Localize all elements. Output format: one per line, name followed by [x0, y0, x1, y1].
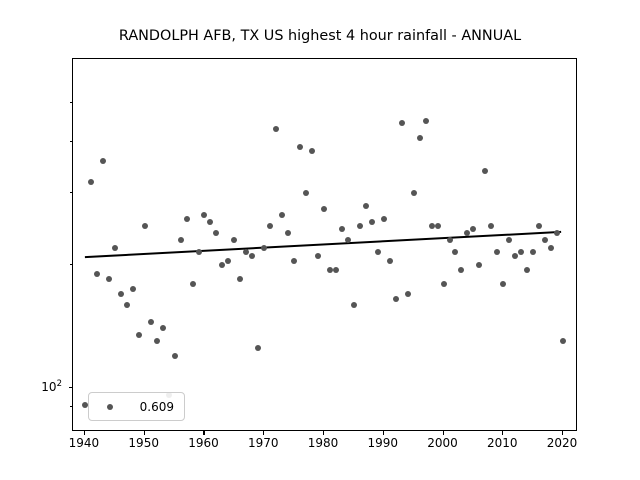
scatter-point — [375, 249, 381, 255]
scatter-point — [207, 219, 213, 225]
scatter-point — [339, 226, 345, 232]
x-tick-label: 1950 — [114, 436, 174, 450]
x-tick — [502, 431, 503, 435]
scatter-point — [88, 179, 94, 185]
figure: RANDOLPH AFB, TX US highest 4 hour rainf… — [0, 0, 640, 480]
scatter-point — [345, 237, 351, 243]
legend[interactable]: 0.609 — [88, 392, 185, 421]
scatter-point — [333, 267, 339, 273]
y-tick-minor — [70, 102, 72, 103]
scatter-point — [470, 226, 476, 232]
scatter-point — [357, 223, 363, 229]
scatter-point — [405, 291, 411, 297]
scatter-point — [136, 332, 142, 338]
scatter-point — [435, 223, 441, 229]
scatter-point — [524, 267, 530, 273]
scatter-point — [124, 302, 130, 308]
y-tick-minor — [70, 264, 72, 265]
scatter-point — [417, 135, 423, 141]
x-tick — [263, 431, 264, 435]
scatter-point — [172, 353, 178, 359]
plot-area — [72, 58, 577, 431]
scatter-point — [429, 223, 435, 229]
scatter-point — [315, 253, 321, 259]
x-tick — [562, 431, 563, 435]
scatter-point — [142, 223, 148, 229]
scatter-point — [381, 216, 387, 222]
scatter-point — [447, 237, 453, 243]
scatter-point — [297, 144, 303, 150]
scatter-point — [231, 237, 237, 243]
scatter-point — [554, 230, 560, 236]
scatter-point — [309, 148, 315, 154]
y-tick-label: 102 — [41, 379, 62, 394]
x-tick-label: 1960 — [173, 436, 233, 450]
scatter-point — [482, 168, 488, 174]
y-tick-minor — [70, 406, 72, 407]
scatter-point — [118, 291, 124, 297]
scatter-point — [399, 120, 405, 126]
y-tick-minor — [70, 141, 72, 142]
scatter-point — [237, 276, 243, 282]
scatter-point — [411, 190, 417, 196]
scatter-point — [106, 276, 112, 282]
legend-marker-icon — [107, 404, 113, 410]
scatter-point — [190, 281, 196, 287]
scatter-point — [393, 296, 399, 302]
scatter-point — [351, 302, 357, 308]
scatter-point — [249, 253, 255, 259]
x-tick-label: 2020 — [532, 436, 592, 450]
scatter-point — [321, 206, 327, 212]
scatter-point — [560, 338, 566, 344]
scatter-point — [476, 262, 482, 268]
x-tick-label: 1990 — [353, 436, 413, 450]
scatter-point — [160, 325, 166, 331]
scatter-point — [536, 223, 542, 229]
scatter-point — [458, 267, 464, 273]
scatter-point — [363, 203, 369, 209]
scatter-point — [219, 262, 225, 268]
scatter-points — [73, 59, 576, 430]
scatter-point — [387, 258, 393, 264]
scatter-point — [512, 253, 518, 259]
scatter-point — [506, 237, 512, 243]
x-tick — [84, 431, 85, 435]
scatter-point — [452, 249, 458, 255]
x-tick — [443, 431, 444, 435]
scatter-point — [423, 118, 429, 124]
y-tick-minor — [70, 192, 72, 193]
scatter-point — [225, 258, 231, 264]
x-tick-label: 1980 — [293, 436, 353, 450]
scatter-point — [94, 271, 100, 277]
scatter-point — [112, 245, 118, 251]
x-tick — [323, 431, 324, 435]
scatter-point — [291, 258, 297, 264]
scatter-point — [548, 245, 554, 251]
scatter-point — [494, 249, 500, 255]
x-tick-label: 2000 — [413, 436, 473, 450]
scatter-point — [255, 345, 261, 351]
scatter-point — [303, 190, 309, 196]
scatter-point — [542, 237, 548, 243]
scatter-point — [285, 230, 291, 236]
y-tick-major — [69, 387, 73, 388]
scatter-point — [488, 223, 494, 229]
x-tick — [383, 431, 384, 435]
scatter-point — [369, 219, 375, 225]
scatter-point — [267, 223, 273, 229]
scatter-point — [196, 249, 202, 255]
x-tick — [144, 431, 145, 435]
x-tick-label: 1940 — [54, 436, 114, 450]
scatter-point — [273, 126, 279, 132]
scatter-point — [130, 286, 136, 292]
scatter-point — [100, 158, 106, 164]
scatter-point — [148, 319, 154, 325]
scatter-point — [441, 281, 447, 287]
x-tick-label: 1970 — [233, 436, 293, 450]
scatter-point — [213, 230, 219, 236]
page-title: RANDOLPH AFB, TX US highest 4 hour rainf… — [0, 28, 640, 44]
scatter-point — [154, 338, 160, 344]
scatter-point — [178, 237, 184, 243]
legend-label: 0.609 — [140, 400, 174, 414]
scatter-point — [201, 212, 207, 218]
x-tick — [203, 431, 204, 435]
scatter-point — [530, 249, 536, 255]
x-tick-label: 2010 — [472, 436, 532, 450]
scatter-point — [261, 245, 267, 251]
scatter-point — [184, 216, 190, 222]
scatter-point — [500, 281, 506, 287]
scatter-point — [279, 212, 285, 218]
scatter-point — [518, 249, 524, 255]
